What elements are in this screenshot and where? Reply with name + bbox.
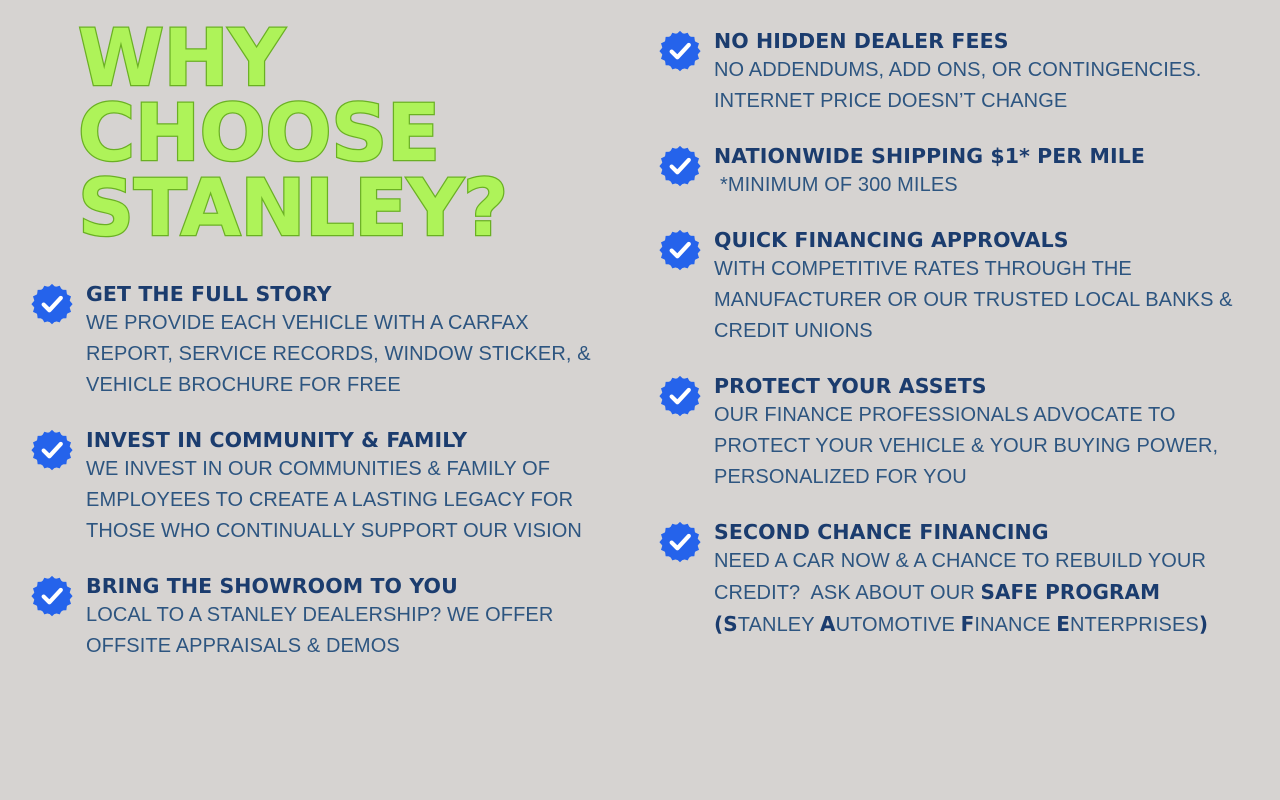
feature-body: NO ADDENDUMS, ADD ONS, OR CONTINGENCIES.… <box>714 55 1250 117</box>
feature-body: *MINIMUM OF 300 MILES <box>714 170 1250 201</box>
verified-check-badge-icon <box>658 30 702 74</box>
feature-body: WITH COMPETITIVE RATES THROUGH THE MANUF… <box>714 254 1250 347</box>
list-item: GET THE FULL STORY WE PROVIDE EACH VEHIC… <box>30 281 600 401</box>
feature-title: BRING THE SHOWROOM TO YOU <box>86 574 600 599</box>
verified-check-badge-icon <box>30 429 74 473</box>
feature-text: NATIONWIDE SHIPPING $1* PER MILE *MINIMU… <box>714 143 1250 201</box>
feature-title: QUICK FINANCING APPROVALS <box>714 228 1250 253</box>
list-item: SECOND CHANCE FINANCING NEED A CAR NOW &… <box>658 519 1250 641</box>
list-item: QUICK FINANCING APPROVALS WITH COMPETITI… <box>658 227 1250 347</box>
feature-title: INVEST IN COMMUNITY & FAMILY <box>86 428 600 453</box>
list-item: BRING THE SHOWROOM TO YOU LOCAL TO A STA… <box>30 573 600 662</box>
feature-text: GET THE FULL STORY WE PROVIDE EACH VEHIC… <box>86 281 600 401</box>
poster-root: WHY CHOOSE STANLEY? GET THE FULL STORY W… <box>0 0 1280 800</box>
verified-check-badge-icon <box>658 521 702 565</box>
list-item: INVEST IN COMMUNITY & FAMILY WE INVEST I… <box>30 427 600 547</box>
feature-text: QUICK FINANCING APPROVALS WITH COMPETITI… <box>714 227 1250 347</box>
right-feature-list: NO HIDDEN DEALER FEES NO ADDENDUMS, ADD … <box>658 28 1250 641</box>
feature-body: OUR FINANCE PROFESSIONALS ADVOCATE TO PR… <box>714 400 1250 493</box>
feature-text: BRING THE SHOWROOM TO YOU LOCAL TO A STA… <box>86 573 600 662</box>
verified-check-badge-icon <box>658 375 702 419</box>
feature-title: NATIONWIDE SHIPPING $1* PER MILE <box>714 144 1250 169</box>
feature-title: NO HIDDEN DEALER FEES <box>714 29 1250 54</box>
verified-check-badge-icon <box>658 145 702 189</box>
right-column: NO HIDDEN DEALER FEES NO ADDENDUMS, ADD … <box>640 0 1280 641</box>
list-item: NO HIDDEN DEALER FEES NO ADDENDUMS, ADD … <box>658 28 1250 117</box>
verified-check-badge-icon <box>30 575 74 619</box>
feature-text: NO HIDDEN DEALER FEES NO ADDENDUMS, ADD … <box>714 28 1250 117</box>
feature-body: WE PROVIDE EACH VEHICLE WITH A CARFAX RE… <box>86 308 600 401</box>
feature-body: LOCAL TO A STANLEY DEALERSHIP? WE OFFER … <box>86 600 600 662</box>
list-item: PROTECT YOUR ASSETS OUR FINANCE PROFESSI… <box>658 373 1250 493</box>
left-column: WHY CHOOSE STANLEY? GET THE FULL STORY W… <box>0 0 620 662</box>
feature-text: PROTECT YOUR ASSETS OUR FINANCE PROFESSI… <box>714 373 1250 493</box>
feature-title: PROTECT YOUR ASSETS <box>714 374 1250 399</box>
verified-check-badge-icon <box>30 283 74 327</box>
feature-text: SECOND CHANCE FINANCING NEED A CAR NOW &… <box>714 519 1250 641</box>
feature-title: SECOND CHANCE FINANCING <box>714 520 1250 545</box>
page-title: WHY CHOOSE STANLEY? <box>78 22 600 247</box>
feature-body: WE INVEST IN OUR COMMUNITIES & FAMILY OF… <box>86 454 600 547</box>
feature-title: GET THE FULL STORY <box>86 282 600 307</box>
left-feature-list: GET THE FULL STORY WE PROVIDE EACH VEHIC… <box>30 281 600 662</box>
feature-text: INVEST IN COMMUNITY & FAMILY WE INVEST I… <box>86 427 600 547</box>
list-item: NATIONWIDE SHIPPING $1* PER MILE *MINIMU… <box>658 143 1250 201</box>
feature-body: NEED A CAR NOW & A CHANCE TO REBUILD YOU… <box>714 546 1250 641</box>
verified-check-badge-icon <box>658 229 702 273</box>
